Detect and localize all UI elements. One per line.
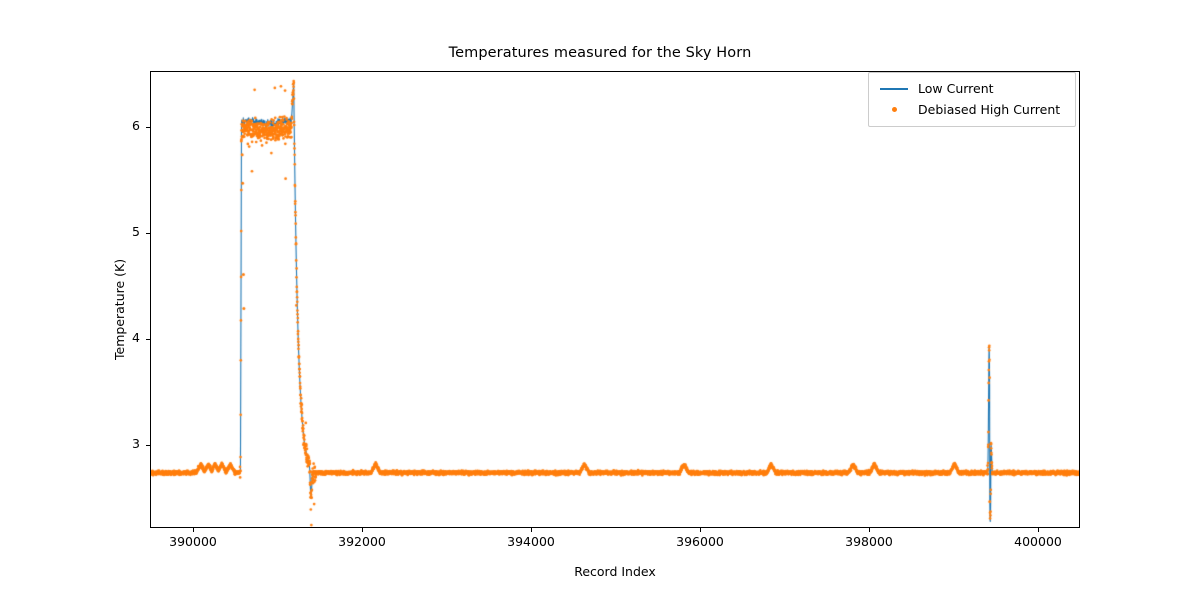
x-tick-label: 392000 [307, 534, 417, 549]
chart-legend: Low Current Debiased High Current [868, 72, 1076, 127]
y-tick-label: 5 [108, 224, 140, 239]
x-tick-label: 396000 [645, 534, 755, 549]
y-tick-label: 3 [108, 436, 140, 451]
y-tick-mark [146, 445, 150, 446]
matplotlib-figure: Temperatures measured for the Sky Horn 3… [0, 0, 1200, 600]
x-tick-mark [362, 528, 363, 532]
y-tick-mark [146, 127, 150, 128]
x-axis-label: Record Index [150, 564, 1080, 579]
x-tick-label: 390000 [138, 534, 248, 549]
legend-item-debiased-high-current: Debiased High Current [876, 99, 1068, 120]
x-tick-label: 400000 [983, 534, 1093, 549]
y-tick-mark [146, 233, 150, 234]
x-tick-mark [869, 528, 870, 532]
plot-canvas [151, 72, 1080, 528]
x-tick-mark [531, 528, 532, 532]
x-tick-label: 394000 [476, 534, 586, 549]
legend-label-debiased-high-current: Debiased High Current [912, 102, 1060, 117]
legend-label-low-current: Low Current [912, 81, 994, 96]
y-tick-label: 6 [108, 118, 140, 133]
dot-swatch-icon [876, 107, 912, 112]
y-axis-label: Temperature (K) [112, 259, 127, 360]
x-tick-mark [1038, 528, 1039, 532]
plot-axes [150, 71, 1080, 528]
x-tick-label: 398000 [814, 534, 924, 549]
chart-title: Temperatures measured for the Sky Horn [0, 45, 1200, 61]
x-tick-mark [700, 528, 701, 532]
x-tick-mark [193, 528, 194, 532]
y-tick-mark [146, 339, 150, 340]
legend-item-low-current: Low Current [876, 78, 1068, 99]
line-swatch-icon [876, 88, 912, 90]
